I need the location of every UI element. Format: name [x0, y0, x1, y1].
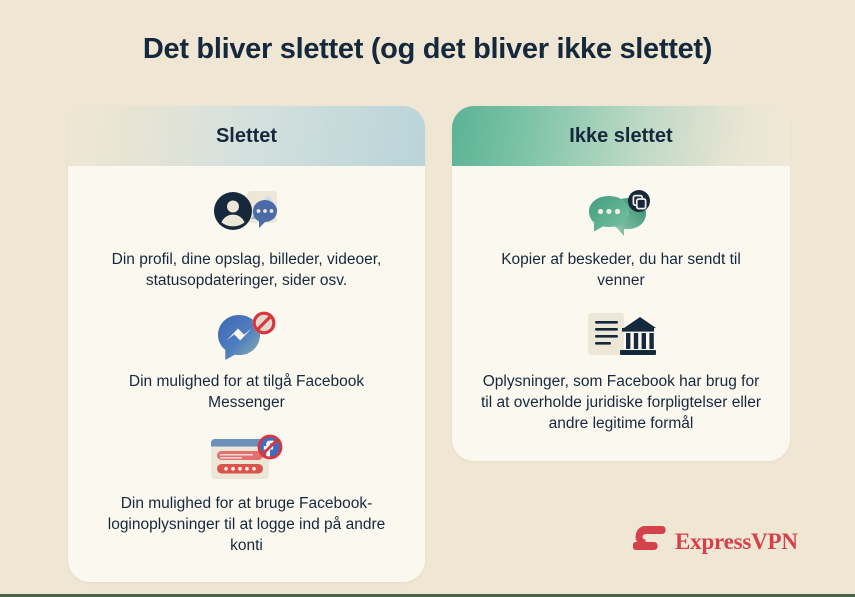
card-deleted-header-label: Slettet [216, 125, 277, 148]
list-item-text: Din mulighed for at tilgå Facebook Messe… [92, 372, 402, 414]
card-not-deleted-header-label: Ikke slettet [569, 125, 672, 148]
card-not-deleted-header: Ikke slettet [452, 106, 790, 166]
list-item: Kopier af beskeder, du har sendt til ven… [470, 184, 772, 292]
page-title: Det bliver slettet (og det bliver ikke s… [0, 33, 855, 66]
list-item-text: Din mulighed for at bruge Facebook-login… [92, 494, 402, 557]
profile-photos-messages-icon [211, 184, 283, 246]
card-deleted: Slettet [68, 106, 425, 582]
list-item: Din mulighed for at tilgå Facebook Messe… [86, 306, 407, 414]
comparison-cards: Slettet [68, 106, 790, 582]
list-item-text: Kopier af beskeder, du har sendt til ven… [476, 250, 766, 292]
list-item: Oplysninger, som Facebook har brug for t… [470, 306, 772, 435]
chat-copy-icon [588, 184, 654, 246]
login-credentials-blocked-icon [207, 428, 287, 490]
card-not-deleted: Ikke slettet [452, 106, 790, 461]
legal-document-courthouse-icon [584, 306, 658, 368]
infographic-page: Det bliver slettet (og det bliver ikke s… [0, 0, 855, 597]
list-item: Din profil, dine opslag, billeder, video… [86, 184, 407, 292]
card-deleted-body: Din profil, dine opslag, billeder, video… [68, 166, 425, 582]
expressvpn-logo: ExpressVPN [633, 524, 798, 559]
expressvpn-e-mark-icon [633, 524, 666, 559]
list-item-text: Din profil, dine opslag, billeder, video… [92, 250, 402, 292]
list-item: Din mulighed for at bruge Facebook-login… [86, 428, 407, 557]
card-not-deleted-body: Kopier af beskeder, du har sendt til ven… [452, 166, 790, 461]
messenger-blocked-icon [215, 306, 279, 368]
card-deleted-header: Slettet [68, 106, 425, 166]
expressvpn-wordmark: ExpressVPN [675, 529, 798, 555]
list-item-text: Oplysninger, som Facebook har brug for t… [476, 372, 766, 435]
